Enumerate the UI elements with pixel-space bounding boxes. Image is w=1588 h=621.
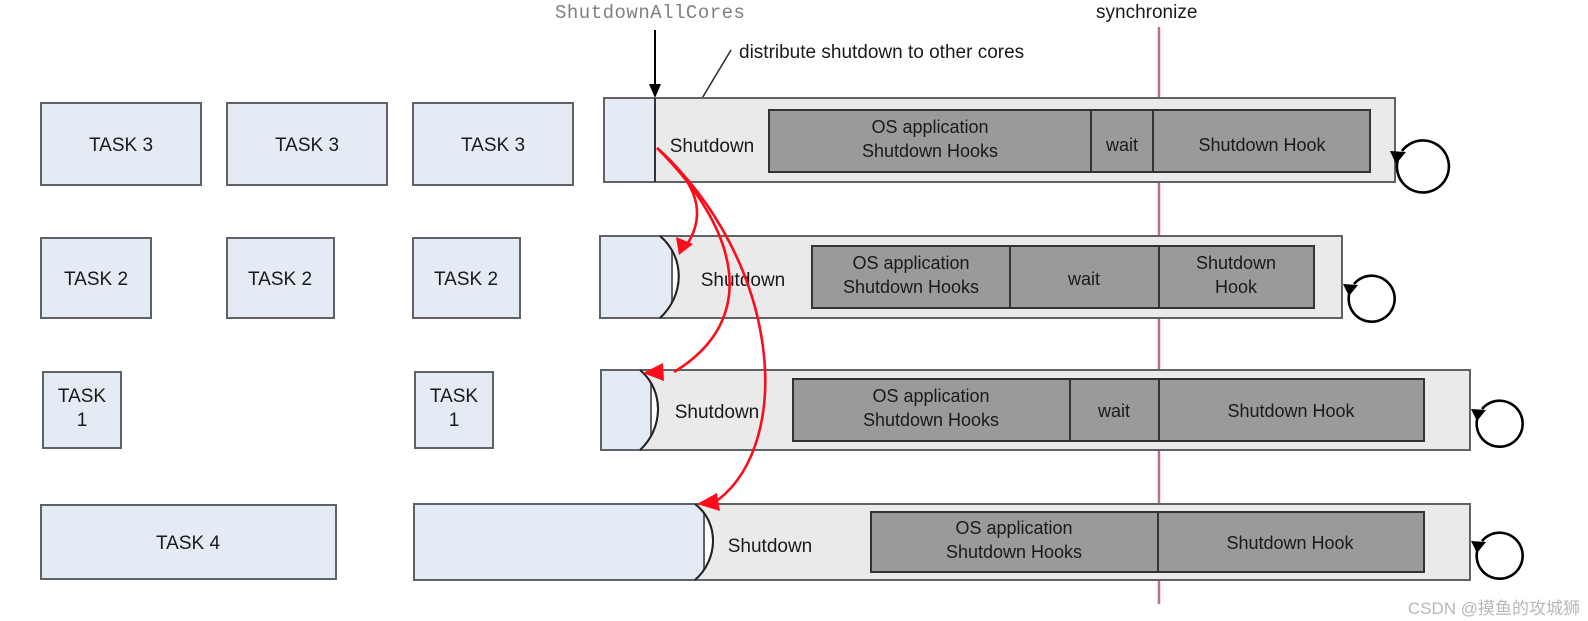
loop-arrow-icon: [1471, 401, 1523, 447]
lane-active-segment: [414, 504, 704, 580]
task-box-label: TASK 2: [434, 269, 498, 290]
core-row-2: TASK 2 TASK 2 TASK 2 Shutdown OS applica…: [41, 236, 1395, 322]
loop-arrow-icon: [1390, 140, 1449, 192]
segment-wait-label: wait: [1105, 135, 1138, 155]
task-box-label: TASK 2: [64, 269, 128, 290]
segment-wait-label: wait: [1097, 401, 1130, 421]
segment-shutdown-hook-line1: Shutdown: [1196, 253, 1276, 273]
annotation-synchronize: synchronize: [1096, 2, 1197, 23]
segment-os-app-hooks-line1: OS application: [955, 518, 1072, 538]
task-box-label-line2: 1: [449, 410, 460, 431]
lane-active-segment: [604, 98, 656, 182]
annotation-distribute-shutdown: distribute shutdown to other cores: [739, 42, 1024, 63]
segment-shutdown-hook-label: Shutdown Hook: [1227, 401, 1355, 421]
segment-wait-label: wait: [1067, 269, 1100, 289]
core-row-1: TASK 3 TASK 3 TASK 3 Shutdown OS applica…: [41, 98, 1449, 192]
segment-os-app-hooks-line2: Shutdown Hooks: [946, 542, 1082, 562]
task-box-label: TASK 2: [248, 269, 312, 290]
task-box-label: TASK 3: [89, 135, 153, 156]
segment-os-app-hooks-line1: OS application: [871, 117, 988, 137]
task-box-label: TASK 4: [156, 533, 220, 554]
segment-label-shutdown: Shutdown: [675, 402, 760, 423]
segment-os-app-hooks-line2: Shutdown Hooks: [862, 141, 998, 161]
task-box-label-line2: 1: [77, 410, 88, 431]
lane-active-segment: [600, 236, 672, 318]
loop-arrow-icon: [1343, 276, 1395, 322]
watermark-label: CSDN @摸鱼的攻城狮: [1408, 594, 1580, 619]
lane-active-segment: [601, 370, 651, 450]
task-box-label-line1: TASK: [58, 386, 107, 407]
diagram-canvas: ShutdownAllCores distribute shutdown to …: [0, 0, 1588, 621]
segment-shutdown-hook-line2: Hook: [1215, 277, 1258, 297]
loop-arrow-icon: [1471, 533, 1523, 579]
down-arrow-icon: [649, 30, 661, 98]
red-curved-arrow-icon: [657, 148, 765, 511]
task-box-label-line1: TASK: [430, 386, 479, 407]
core-row-3: TASK 1 TASK 1 Shutdown OS application Sh…: [43, 370, 1523, 450]
task-box-label: TASK 3: [461, 135, 525, 156]
segment-shutdown-hook-label: Shutdown Hook: [1226, 533, 1354, 553]
segment-os-app-hooks-line2: Shutdown Hooks: [863, 410, 999, 430]
segment-os-app-hooks-line1: OS application: [852, 253, 969, 273]
task-box-label: TASK 3: [275, 135, 339, 156]
segment-os-app-hooks-line2: Shutdown Hooks: [843, 277, 979, 297]
segment-os-app-hooks-line1: OS application: [872, 386, 989, 406]
annotation-shutdown-all-cores: ShutdownAllCores: [555, 2, 745, 24]
shutdown-sequence-diagram: ShutdownAllCores distribute shutdown to …: [0, 0, 1588, 621]
core-row-4: TASK 4 Shutdown OS application Shutdown …: [41, 504, 1523, 580]
segment-shutdown-hook-label: Shutdown Hook: [1198, 135, 1326, 155]
segment-label-shutdown: Shutdown: [670, 136, 755, 157]
segment-label-shutdown: Shutdown: [728, 536, 813, 557]
